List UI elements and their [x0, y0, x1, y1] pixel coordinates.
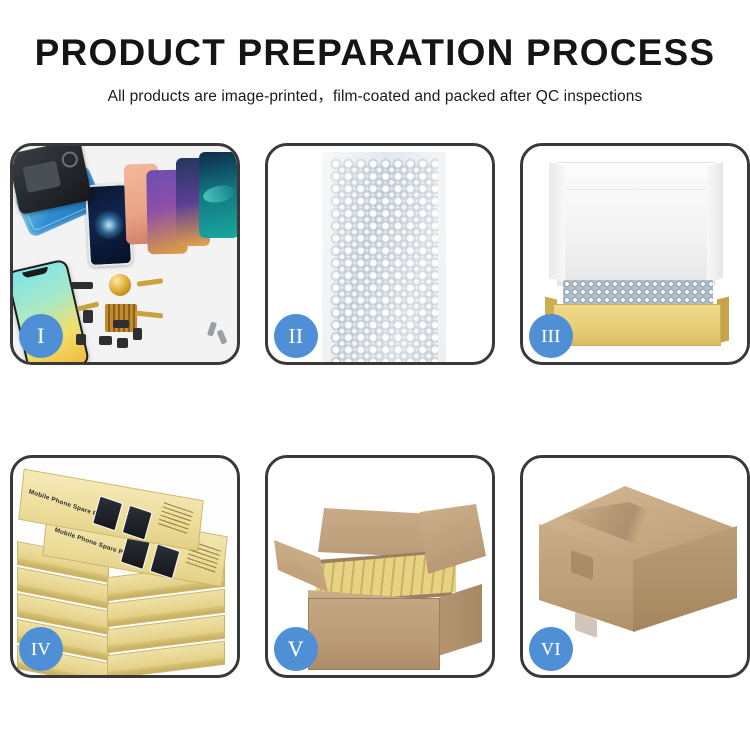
step-card-5[interactable]: V	[265, 455, 495, 678]
gold-coil-part-icon	[109, 274, 131, 296]
plastic-sheen	[322, 152, 446, 362]
step-card-3[interactable]: III	[520, 143, 750, 365]
step-card-1[interactable]: I	[10, 143, 240, 365]
step-card-4[interactable]: Mobile Phone Spare Parts Mobile Phone Sp…	[10, 455, 240, 678]
flex-cable-icon	[135, 311, 163, 319]
box-phone-image	[122, 505, 153, 541]
spare-part-icon	[71, 282, 93, 289]
box-spec-lines	[157, 502, 193, 536]
kraft-box-front	[553, 304, 721, 346]
spare-part-icon	[113, 320, 129, 328]
step-badge-6: VI	[529, 627, 573, 671]
step-badge-3: III	[529, 314, 573, 358]
teal-phone-icon	[199, 152, 237, 238]
steps-grid: I II	[0, 0, 750, 750]
screw-icon	[217, 329, 228, 344]
screw-icon	[207, 321, 217, 336]
step-card-2[interactable]: II	[265, 143, 495, 365]
spare-part-icon	[76, 334, 86, 345]
spare-part-icon	[83, 310, 93, 323]
carton-front-face	[308, 598, 440, 670]
white-lid-panel	[557, 162, 715, 286]
spare-part-icon	[99, 336, 112, 345]
box-phone-image	[149, 543, 180, 579]
step-badge-2: II	[274, 314, 318, 358]
step-badge-5: V	[274, 627, 318, 671]
spare-part-icon	[117, 338, 128, 348]
white-lid-right-flap	[707, 162, 723, 281]
carton-back-flap	[318, 508, 438, 560]
step-badge-1: I	[19, 314, 63, 358]
step-badge-4: IV	[19, 627, 63, 671]
carton-right-flap	[420, 504, 486, 574]
spare-part-icon	[133, 328, 142, 340]
box-phone-image	[92, 495, 123, 531]
flex-cable-icon	[137, 278, 163, 287]
product-preparation-page: PRODUCT PREPARATION PROCESS All products…	[0, 0, 750, 750]
step-card-6[interactable]: VI	[520, 455, 750, 678]
white-lid-left-flap	[549, 162, 565, 281]
